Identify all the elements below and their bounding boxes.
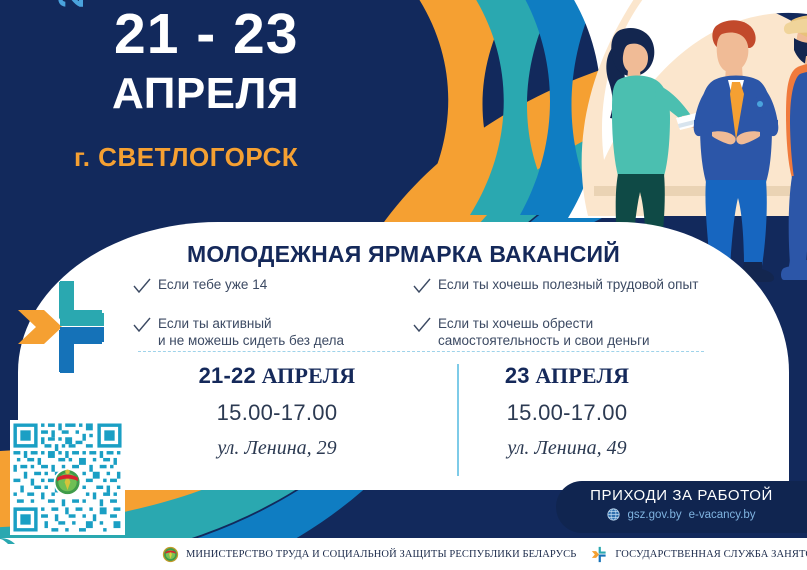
list-item-label: Если ты хочешь обрести самостоятельность… [438,315,650,350]
service-label: ГОСУДАРСТВЕННАЯ СЛУЖБА ЗАНЯТОСТИ [615,549,807,560]
list-item-label: Если ты хочешь полезный трудовой опыт [438,276,698,293]
year-label: 2025 [52,0,92,8]
vertical-divider [457,364,459,476]
check-icon [132,316,152,336]
gsz-angular-logo [14,280,124,375]
belarus-emblem-icon [54,468,82,496]
check-icon [132,277,152,297]
gsz-logo-icon [591,546,608,563]
schedule-address: ул. Ленина, 49 [422,437,712,460]
page-title: МОЛОДЕЖНАЯ ЯРМАРКА ВАКАНСИЙ [0,241,807,268]
check-icon [412,277,432,297]
cta-banner[interactable]: ПРИХОДИ ЗА РАБОТОЙ gsz.gov.by e-vacancy.… [556,481,807,533]
month-label: АПРЕЛЯ [112,72,299,116]
footer-left-accent [0,538,26,570]
list-item: Если ты хочешь полезный трудовой опыт [412,276,742,297]
link-evacancy[interactable]: e-vacancy.by [689,509,756,521]
list-item: Если ты активный и не можешь сидеть без … [132,315,412,350]
dashed-divider [138,351,704,352]
schedule-date-number: 23 [505,363,530,388]
belarus-emblem-icon [162,546,179,563]
benefits-checklist: Если тебе уже 14 Если ты хочешь полезный… [132,276,752,350]
schedule-date-number: 21-22 [199,363,256,388]
schedule-address: ул. Ленина, 29 [132,437,422,460]
ministry-label: МИНИСТЕРСТВО ТРУДА И СОЦИАЛЬНОЙ ЗАЩИТЫ Р… [186,549,576,560]
poster-root: 2025 21 - 23 АПРЕЛЯ г. СВЕТЛОГОРСК МОЛОД… [0,0,807,570]
date-range: 21 - 23 [114,6,298,63]
list-item-label: Если тебе уже 14 [158,276,267,293]
schedule-date: 23 АПРЕЛЯ [422,363,712,389]
cta-links: gsz.gov.by e-vacancy.by [556,508,807,521]
list-item-label: Если ты активный и не можешь сидеть без … [158,315,344,350]
link-gsz[interactable]: gsz.gov.by [627,509,681,521]
qr-code[interactable] [10,420,125,535]
globe-icon [607,508,620,521]
city-label: г. СВЕТЛОГОРСК [74,142,298,173]
schedule-date: 21-22 АПРЕЛЯ [132,363,422,389]
cta-title: ПРИХОДИ ЗА РАБОТОЙ [556,487,807,504]
schedule-time: 15.00-17.00 [422,400,712,426]
footer-bar: МИНИСТЕРСТВО ТРУДА И СОЦИАЛЬНОЙ ЗАЩИТЫ Р… [0,538,807,570]
schedule-date-month: АПРЕЛЯ [535,363,629,388]
schedule-column-1: 21-22 АПРЕЛЯ 15.00-17.00 ул. Ленина, 29 [132,363,422,460]
schedule-date-month: АПРЕЛЯ [262,363,356,388]
list-item: Если ты хочешь обрести самостоятельность… [412,315,742,350]
schedule-time: 15.00-17.00 [132,400,422,426]
list-item: Если тебе уже 14 [132,276,412,297]
schedule-section: 21-22 АПРЕЛЯ 15.00-17.00 ул. Ленина, 29 … [132,363,712,460]
check-icon [412,316,432,336]
schedule-column-2: 23 АПРЕЛЯ 15.00-17.00 ул. Ленина, 49 [422,363,712,460]
